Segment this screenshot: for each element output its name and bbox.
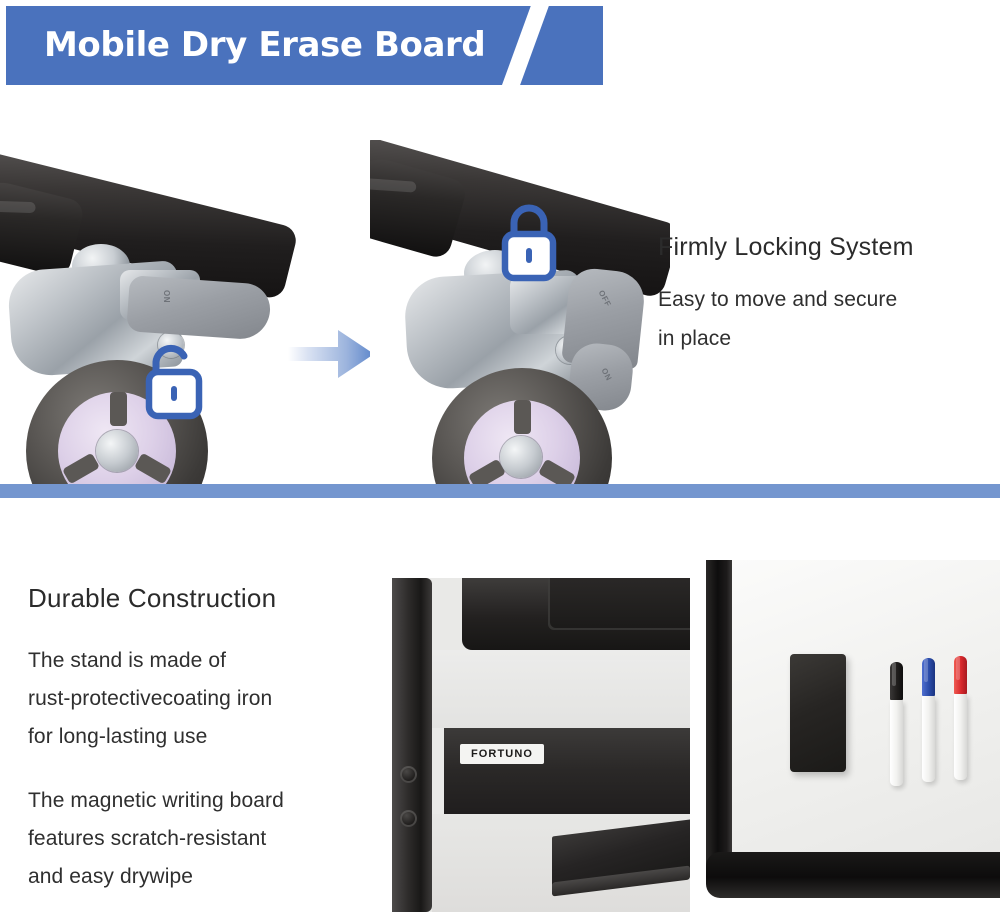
para2-line-2: features scratch-resistant	[28, 827, 266, 850]
marker-blue	[922, 652, 935, 782]
marker-cap	[922, 658, 935, 696]
marker-barrel	[922, 696, 935, 782]
board-panel-upper	[432, 650, 690, 728]
caster-unlocked-photo: ON	[0, 140, 300, 485]
post-bolt-hole	[400, 766, 417, 783]
caster-locked-photo: OFF ON	[370, 140, 670, 485]
wheel-center-bolt	[96, 430, 138, 472]
whiteboard-frame-bottom	[706, 852, 1000, 898]
durable-construction-heading: Durable Construction	[28, 582, 380, 614]
header-banner: Mobile Dry Erase Board	[6, 6, 603, 85]
stand-construction-photo: FORTUNO	[392, 578, 690, 912]
locking-body-line-1: Easy to move and secure	[658, 288, 897, 311]
infographic-page: Mobile Dry Erase Board ON	[0, 0, 1000, 912]
eraser	[790, 654, 846, 772]
banner-slash-decoration	[497, 6, 551, 85]
unlock-icon	[140, 336, 206, 420]
marker-cap	[890, 662, 903, 700]
marker-barrel	[890, 700, 903, 786]
marker-cap	[954, 656, 967, 694]
board-cross-bar: FORTUNO	[444, 728, 690, 814]
wheel-spoke	[110, 392, 127, 426]
board-frame-inner	[548, 578, 690, 630]
marker-red	[954, 650, 967, 780]
brake-lever[interactable]	[126, 275, 272, 341]
para2-line-1: The magnetic writing board	[28, 789, 284, 812]
post-bolt-hole	[400, 810, 417, 827]
whiteboard-accessories-photo	[706, 560, 1000, 912]
para2-line-3: and easy drywipe	[28, 865, 193, 888]
durable-construction-paragraph-2: The magnetic writing board features scra…	[28, 782, 380, 896]
durable-construction-text-block: Durable Construction The stand is made o…	[28, 582, 380, 896]
locking-system-heading: Firmly Locking System	[658, 232, 990, 262]
durable-construction-paragraph-1: The stand is made of rust-protectivecoat…	[28, 642, 380, 756]
para1-line-3: for long-lasting use	[28, 725, 207, 748]
brand-label-text: FORTUNO	[471, 748, 533, 760]
arrow-right-icon	[288, 326, 374, 382]
whiteboard-frame-left	[706, 560, 732, 876]
board-frame-top	[462, 578, 690, 650]
page-title: Mobile Dry Erase Board	[44, 20, 485, 70]
section-divider	[0, 484, 1000, 498]
locking-system-body: Easy to move and secure in place	[658, 280, 990, 358]
locking-body-line-2: in place	[658, 327, 731, 350]
brake-lever-label: ON	[162, 290, 171, 303]
locking-system-text-block: Firmly Locking System Easy to move and s…	[658, 232, 990, 358]
para1-line-2: rust-protectivecoating iron	[28, 687, 272, 710]
lock-icon	[496, 196, 562, 282]
stand-vertical-post	[392, 578, 432, 912]
wheel-spoke	[514, 400, 531, 434]
marker-black	[890, 656, 903, 786]
para1-line-1: The stand is made of	[28, 649, 226, 672]
marker-barrel	[954, 694, 967, 780]
wheel-center-bolt	[500, 436, 542, 478]
brand-label: FORTUNO	[460, 744, 544, 764]
